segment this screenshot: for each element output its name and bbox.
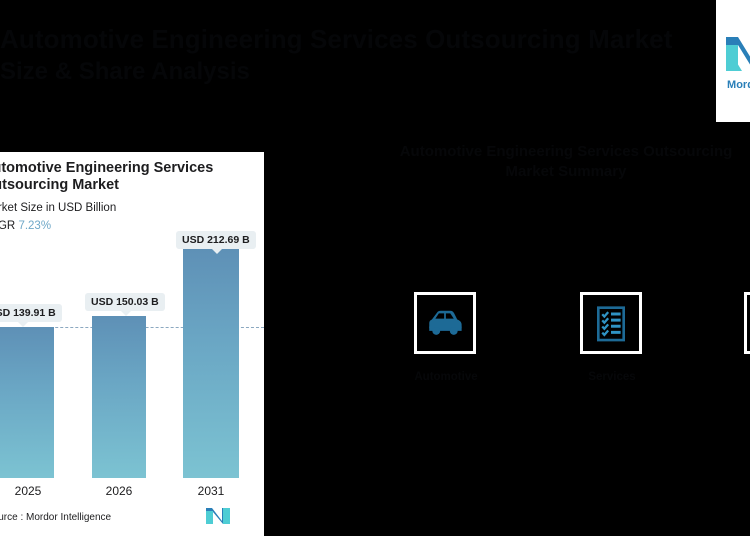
header-band: Automotive Engineering Services Outsourc… [0,0,750,125]
cagr-value: 7.23% [18,220,51,232]
bar-2025 [0,327,54,478]
chart-title: Automotive Engineering Services Outsourc… [0,160,262,194]
bar-plot: USD 139.91 B USD 150.03 B USD 212.69 B [0,248,264,478]
bar-2026 [92,316,146,478]
source-mordor-m-logo-icon [205,507,231,525]
cagr-label: CAGR [0,220,15,232]
page-title: Automotive Engineering Services Outsourc… [0,22,700,56]
bar-label-2031: USD 212.69 B [176,231,256,249]
brand-logo-card: Mordor [716,0,750,122]
page-subtitle: Size & Share Analysis [0,56,700,88]
x-tick-2031: 2031 [183,484,239,498]
icon-caption-market: Market [721,370,750,385]
car-icon [424,302,466,344]
summary-icon-row: Automotive Services Market [396,292,750,362]
chart-source: Source : Mordor Intelligence [0,512,111,523]
chart-subtitle: Market Size in USD Billion [0,202,262,214]
brand-name: Mordor [727,79,750,91]
bar-label-2026: USD 150.03 B [85,293,165,311]
chart-panel: Automotive Engineering Services Outsourc… [0,152,264,536]
x-tick-2025: 2025 [0,484,70,498]
bar-2031 [183,248,239,478]
screenshot-root: Automotive Engineering Services Outsourc… [0,0,750,536]
icon-caption-services: Services [557,370,667,385]
summary-heading: Automotive Engineering Services Outsourc… [396,142,736,182]
icon-tile-services [580,292,642,354]
x-tick-2026: 2026 [92,484,146,498]
mordor-m-logo-icon [724,31,750,75]
icon-caption-automotive: Automotive [391,370,501,385]
checklist-clipboard-icon [590,302,632,344]
icon-tile-market [744,292,750,354]
icon-tile-automotive [414,292,476,354]
bar-label-2025: USD 139.91 B [0,304,62,322]
